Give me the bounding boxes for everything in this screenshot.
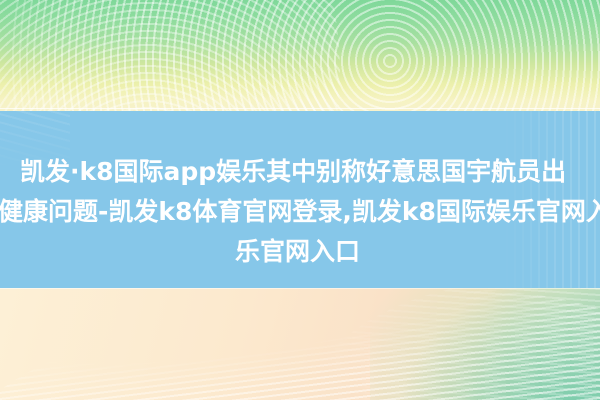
title-line-2: 健康问题-凯发k8体育官网登录,凯发k8国际娱乐官网入口 (0, 192, 600, 232)
top-band-hairline (0, 108, 600, 109)
bottom-gradient-band (0, 288, 600, 400)
banner-title-text: 凯发·k8国际app娱乐其中别称好意思国宇航员出 健康问题-凯发k8体育官网登录… (20, 152, 600, 272)
title-line-1: 凯发·k8国际app娱乐其中别称好意思国宇航员出 (20, 152, 600, 192)
bottom-band-hairline (0, 288, 600, 289)
decorative-title-banner: 凯发·k8国际app娱乐其中别称好意思国宇航员出 健康问题-凯发k8体育官网登录… (0, 0, 600, 400)
title-line-3: 乐官网入口 (235, 232, 600, 272)
arc-pattern-left-icon (0, 0, 340, 111)
top-gradient-band (0, 0, 600, 111)
